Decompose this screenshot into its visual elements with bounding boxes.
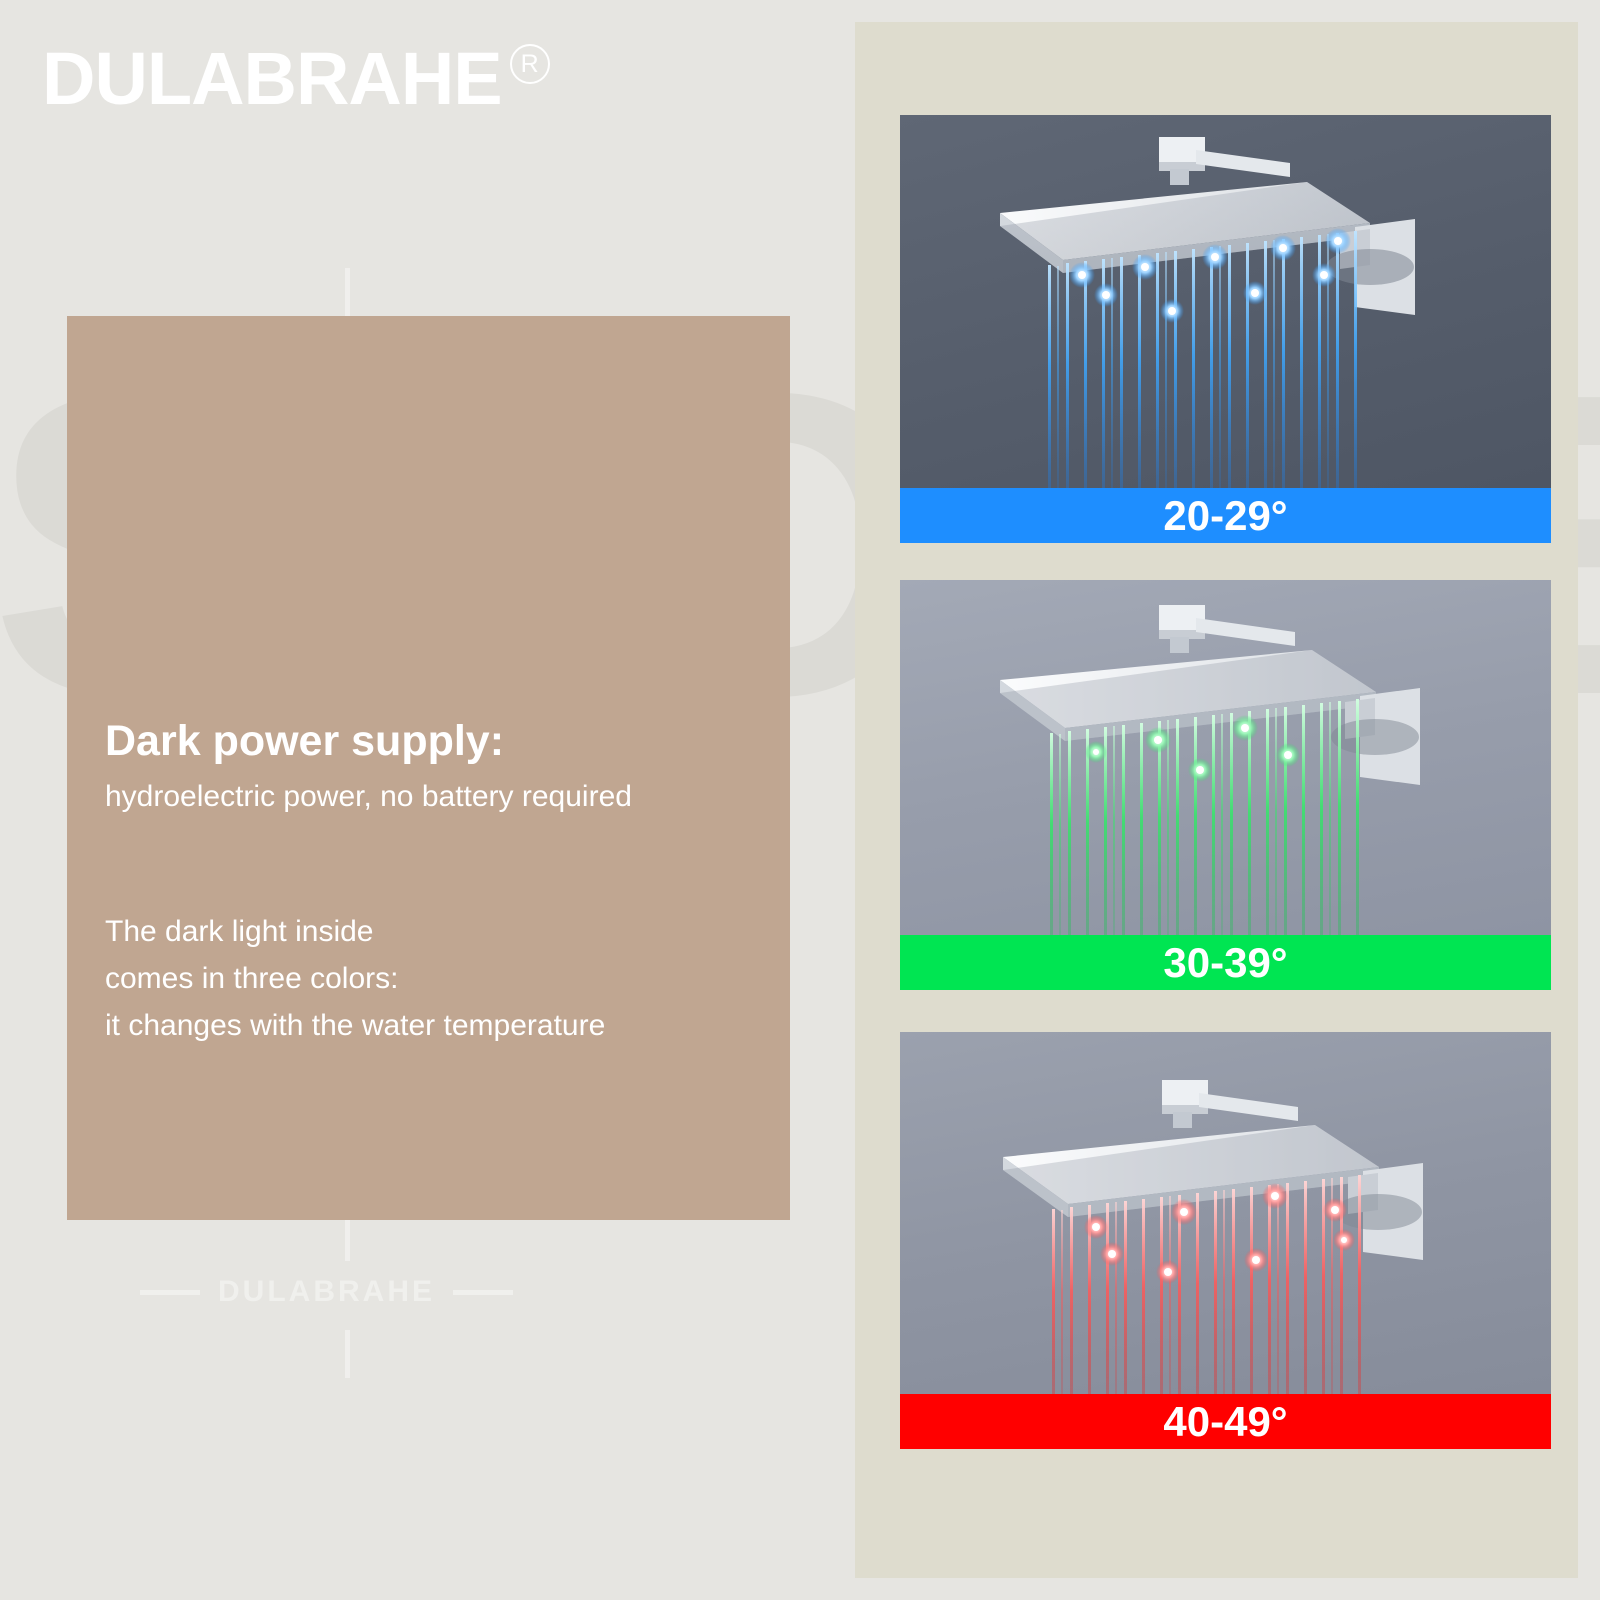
info-paragraph: The dark light inside comes in three col… (105, 908, 605, 1049)
watermark-tick (345, 1330, 350, 1378)
temperature-label-blue: 20-29° (900, 488, 1551, 543)
shower-photo-green (900, 580, 1551, 935)
gallery-panel: 20-29° (855, 22, 1578, 1578)
watermark-tick (345, 1213, 350, 1261)
brand-logo: DULABRAHE R (42, 42, 550, 116)
shower-photo-red (900, 1032, 1551, 1394)
watermark-dash-right (453, 1290, 513, 1295)
brand-watermark-tile: DULABRAHE (140, 1275, 513, 1309)
info-paragraph-line: The dark light inside (105, 908, 605, 955)
shower-head-illustration-red (900, 1032, 1551, 1394)
info-subline: hydroelectric power, no battery required (105, 782, 632, 812)
registered-trademark-icon: R (510, 44, 550, 84)
info-panel: Dark power supply: hydroelectric power, … (67, 316, 790, 1220)
watermark-tick (345, 268, 350, 316)
temperature-label-green: 30-39° (900, 935, 1551, 990)
info-paragraph-line: it changes with the water temperature (105, 1002, 605, 1049)
shower-head-illustration-blue (900, 115, 1551, 488)
temperature-card-green: 30-39° (900, 580, 1551, 990)
temperature-card-red: 40-49° (900, 1032, 1551, 1449)
info-headline: Dark power supply: (105, 720, 504, 763)
temperature-label-red: 40-49° (900, 1394, 1551, 1449)
watermark-dash-left (140, 1290, 200, 1295)
shower-head-illustration-green (900, 580, 1551, 935)
shower-photo-blue (900, 115, 1551, 488)
info-paragraph-line: comes in three colors: (105, 955, 605, 1002)
temperature-card-blue: 20-29° (900, 115, 1551, 543)
brand-name: DULABRAHE (42, 42, 502, 116)
watermark-brand-label: DULABRAHE (218, 1275, 435, 1309)
